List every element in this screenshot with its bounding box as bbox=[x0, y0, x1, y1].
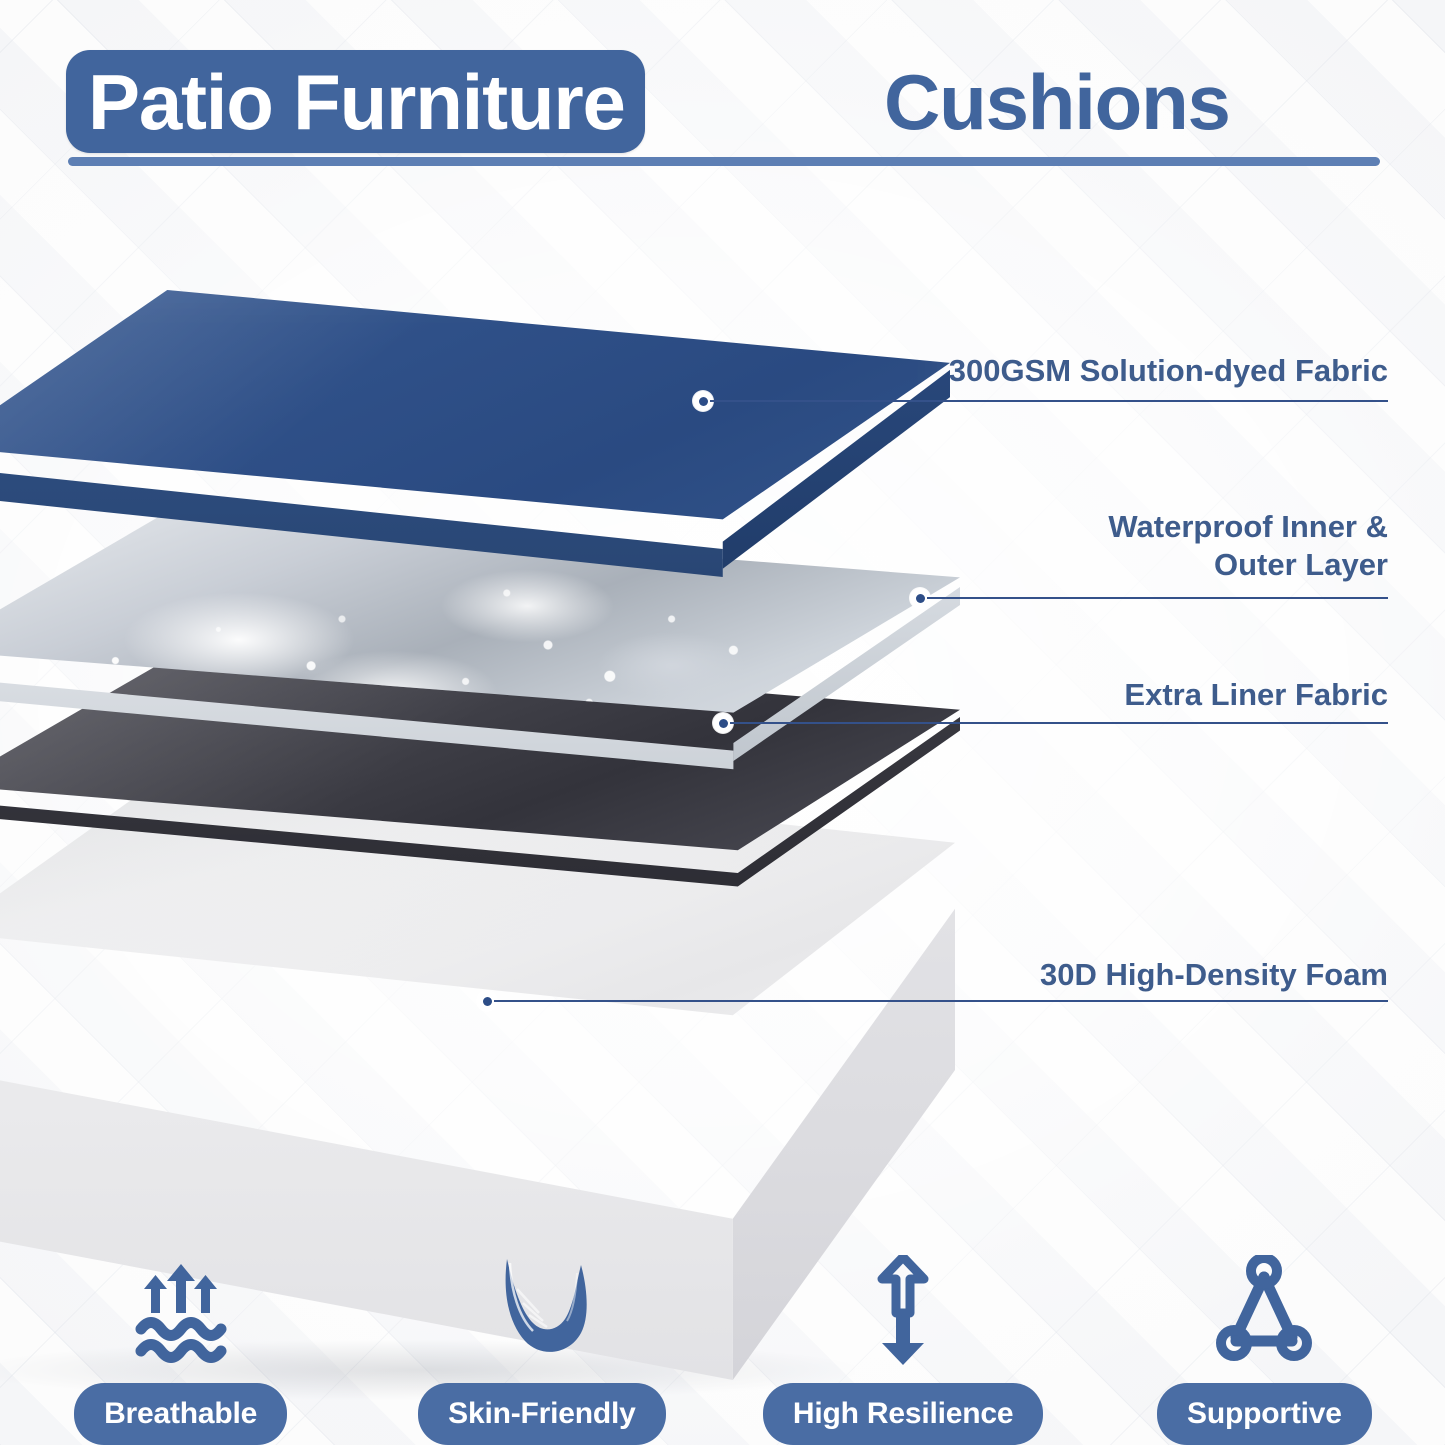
feature-skin-friendly[interactable]: Skin-Friendly bbox=[361, 1215, 722, 1445]
callout-label-foam: 30D High-Density Foam bbox=[788, 956, 1388, 994]
feature-label-high-resilience: High Resilience bbox=[763, 1383, 1043, 1445]
callout-line-foam bbox=[494, 1000, 1388, 1002]
feature-high-resilience[interactable]: High Resilience bbox=[723, 1215, 1084, 1445]
callout-label-waterproof: Waterproof Inner & Outer Layer bbox=[788, 508, 1388, 584]
feature-supportive[interactable]: Supportive bbox=[1084, 1215, 1445, 1445]
feature-label-breathable: Breathable bbox=[74, 1383, 287, 1445]
callout-line-fabric bbox=[710, 400, 1388, 402]
triangle-nodes-icon bbox=[1207, 1255, 1322, 1367]
feature-label-supportive: Supportive bbox=[1157, 1383, 1372, 1445]
feather-icon bbox=[477, 1255, 607, 1367]
callout-line-liner bbox=[730, 722, 1388, 724]
callout-label-fabric: 300GSM Solution-dyed Fabric bbox=[788, 352, 1388, 390]
callout-line-waterproof bbox=[927, 597, 1388, 599]
callout-label-liner: Extra Liner Fabric bbox=[788, 676, 1388, 714]
breathable-icon bbox=[121, 1255, 241, 1367]
resilience-arrows-icon bbox=[848, 1255, 958, 1367]
feature-breathable[interactable]: Breathable bbox=[0, 1215, 361, 1445]
feature-label-skin-friendly: Skin-Friendly bbox=[418, 1383, 665, 1445]
feature-badge-row: Breathable Skin-Friendly High Resilience bbox=[0, 1215, 1445, 1445]
